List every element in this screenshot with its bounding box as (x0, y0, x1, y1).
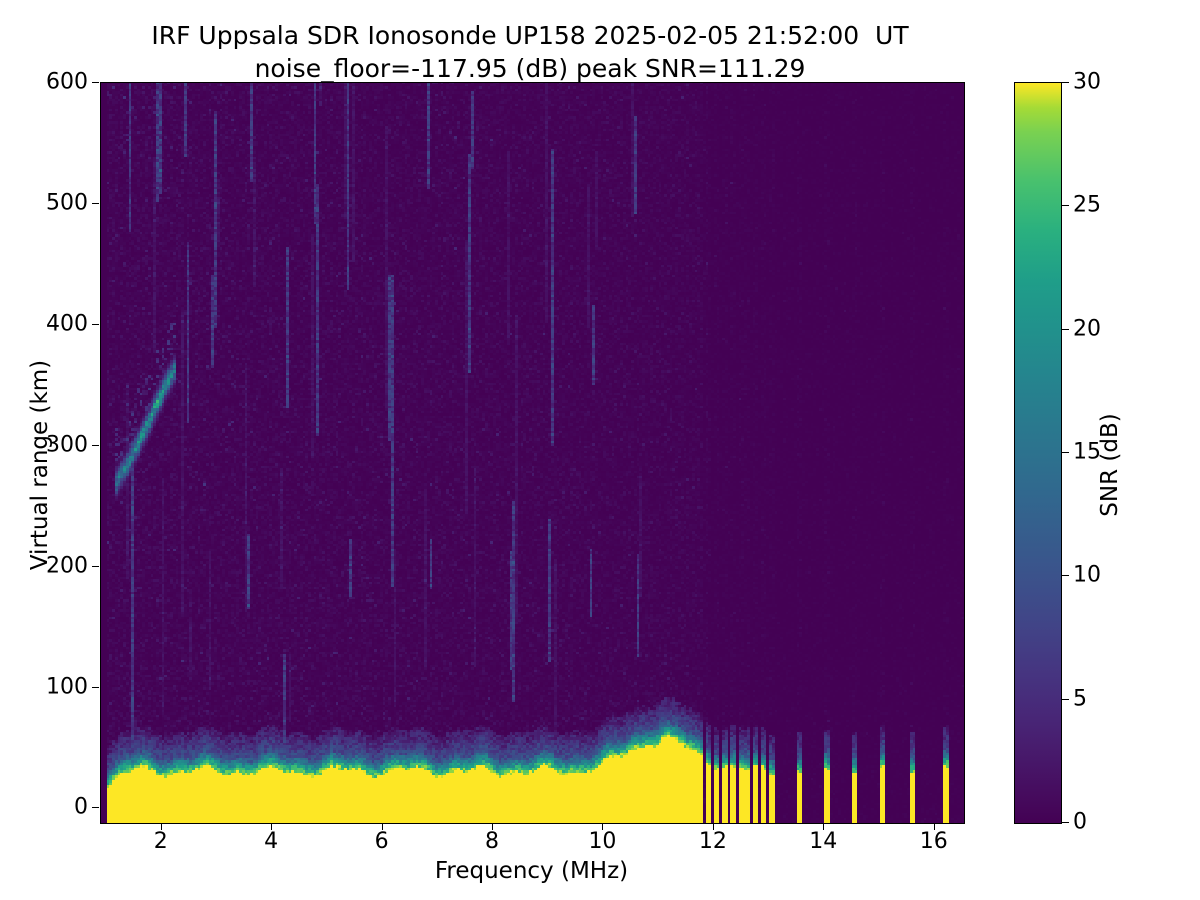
x-tick-mark (161, 823, 162, 830)
colorbar-tick-mark (1062, 82, 1069, 83)
colorbar-tick-mark (1062, 699, 1069, 700)
x-tick-mark (602, 823, 603, 830)
y-tick-mark (92, 82, 99, 83)
colorbar (1014, 82, 1062, 824)
colorbar-tick-mark (1062, 575, 1069, 576)
x-tick-label: 10 (588, 829, 616, 854)
x-tick-mark (713, 823, 714, 830)
y-axis-label: Virtual range (km) (27, 95, 53, 835)
title-line-1: IRF Uppsala SDR Ionosonde UP158 2025-02-… (0, 20, 1060, 53)
colorbar-tick-mark (1062, 822, 1069, 823)
y-tick-mark (92, 687, 99, 688)
title-line-2: noise_floor=-117.95 (dB) peak SNR=111.29 (0, 53, 1060, 86)
y-tick-mark (92, 807, 99, 808)
ionogram-figure: IRF Uppsala SDR Ionosonde UP158 2025-02-… (0, 0, 1200, 900)
y-tick-label: 600 (46, 70, 88, 95)
colorbar-gradient (1015, 83, 1061, 823)
colorbar-tick-label: 5 (1073, 686, 1087, 711)
y-tick-mark (92, 324, 99, 325)
x-tick-mark (382, 823, 383, 830)
x-tick-mark (823, 823, 824, 830)
colorbar-tick-label: 30 (1073, 70, 1101, 95)
x-tick-mark (271, 823, 272, 830)
x-axis-label: Frequency (MHz) (100, 858, 963, 884)
x-tick-label: 12 (699, 829, 727, 854)
y-tick-mark (92, 566, 99, 567)
y-tick-mark (92, 445, 99, 446)
colorbar-tick-label: 0 (1073, 810, 1087, 835)
y-tick-label: 0 (74, 795, 88, 820)
x-tick-label: 16 (920, 829, 948, 854)
x-tick-label: 6 (375, 829, 389, 854)
colorbar-tick-mark (1062, 329, 1069, 330)
x-tick-label: 14 (809, 829, 837, 854)
x-tick-label: 4 (264, 829, 278, 854)
x-tick-mark (934, 823, 935, 830)
x-tick-label: 2 (154, 829, 168, 854)
y-tick-mark (92, 203, 99, 204)
colorbar-label: SNR (dB) (1097, 95, 1123, 835)
heatmap-axes (100, 82, 965, 824)
ionogram-heatmap (101, 83, 964, 823)
page-title: IRF Uppsala SDR Ionosonde UP158 2025-02-… (0, 20, 1060, 85)
colorbar-tick-mark (1062, 205, 1069, 206)
x-tick-label: 8 (485, 829, 499, 854)
colorbar-tick-mark (1062, 452, 1069, 453)
x-tick-mark (492, 823, 493, 830)
